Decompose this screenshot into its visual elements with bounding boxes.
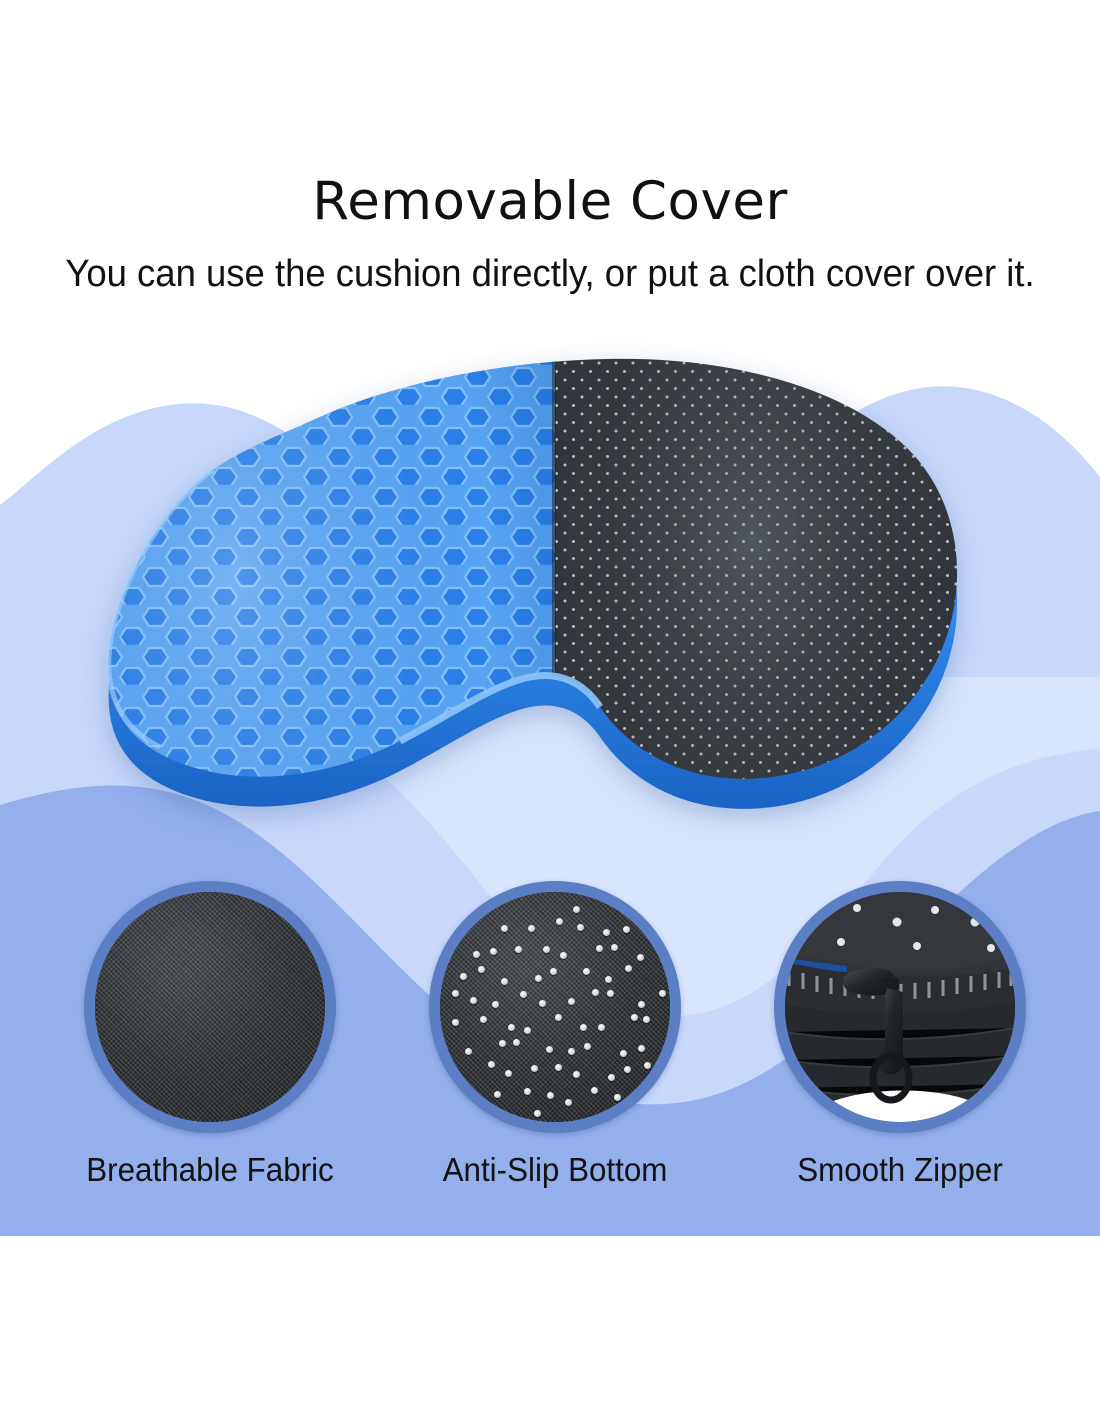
- page-subtitle: You can use the cushion directly, or put…: [22, 250, 1078, 298]
- anti-slip-dots-swatch-icon: [440, 892, 670, 1122]
- footer-whitespace: [0, 1236, 1100, 1422]
- feature-labels: Breathable Fabric Anti-Slip Bottom Smoot…: [0, 1147, 1100, 1217]
- infographic-page: Removable Cover You can use the cushion …: [0, 0, 1100, 1422]
- page-title: Removable Cover: [0, 172, 1100, 232]
- zipper-closeup-icon: [785, 892, 1015, 1122]
- feature-circles: [0, 877, 1100, 1147]
- feature-label-breathable-fabric: Breathable Fabric: [49, 1147, 372, 1193]
- feature-label-smooth-zipper: Smooth Zipper: [739, 1147, 1062, 1193]
- header-section: Removable Cover You can use the cushion …: [0, 0, 1100, 325]
- feature-circle-breathable-fabric: [84, 881, 336, 1133]
- feature-circle-anti-slip-bottom: [429, 881, 681, 1133]
- feature-circle-smooth-zipper: [774, 881, 1026, 1133]
- feature-label-anti-slip-bottom: Anti-Slip Bottom: [394, 1147, 717, 1193]
- breathable-fabric-swatch-icon: [95, 892, 325, 1122]
